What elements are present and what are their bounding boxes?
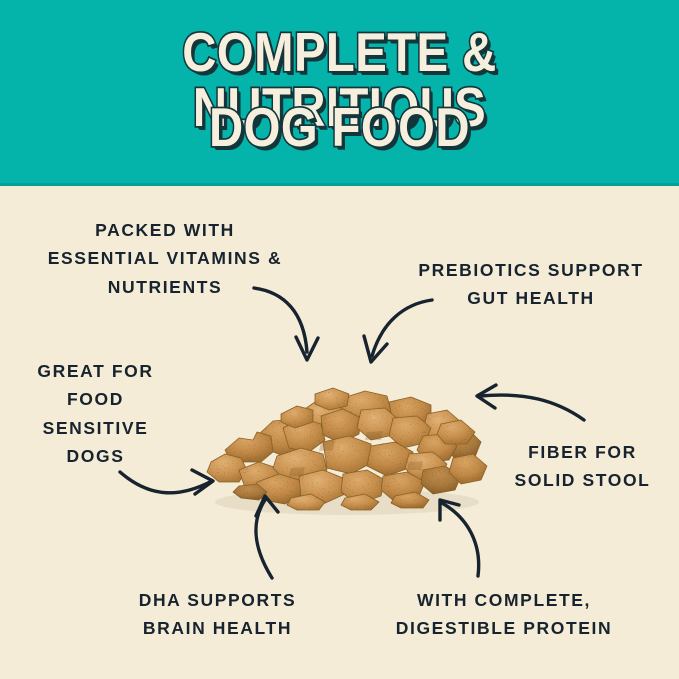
dog-food-kibble-pile — [195, 358, 495, 516]
callout-with-complete-digestible-protein: WITH COMPLETE, DIGESTIBLE PROTEIN — [382, 586, 626, 643]
callout-packed-with-essential-vitamins-nutrients: PACKED WITH ESSENTIAL VITAMINS & NUTRIEN… — [20, 216, 310, 301]
callout-fiber-for-solid-stool: FIBER FOR SOLID STOOL — [495, 438, 670, 495]
dog-food-infographic: COMPLETE & NUTRITIOUS DOG FOOD — [0, 0, 679, 679]
page-title-line-2: DOG FOOD — [48, 100, 632, 155]
header-banner: COMPLETE & NUTRITIOUS DOG FOOD — [0, 0, 679, 186]
callout-prebiotics-support-gut-health: PREBIOTICS SUPPORT GUT HEALTH — [400, 256, 662, 313]
callout-great-for-food-sensitive-dogs: GREAT FOR FOOD SENSITIVE DOGS — [8, 357, 183, 470]
callout-dha-supports-brain-health: DHA SUPPORTS BRAIN HEALTH — [105, 586, 330, 643]
